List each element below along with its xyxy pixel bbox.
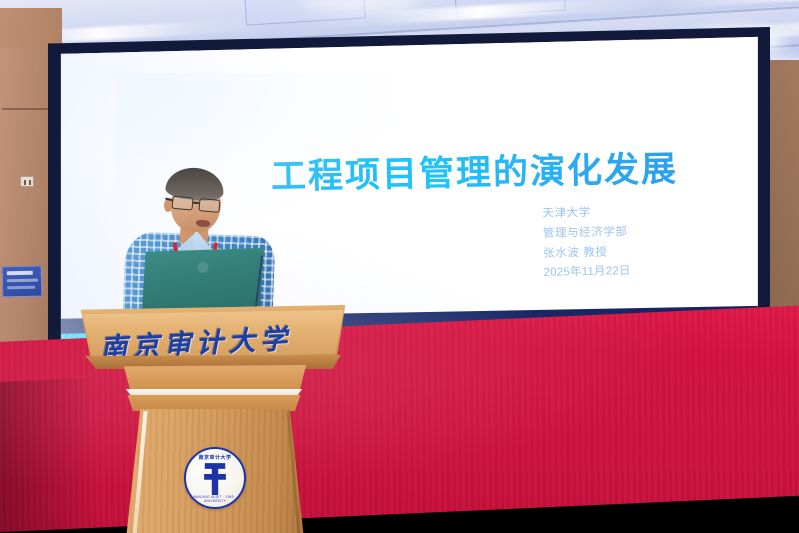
slide-title: 工程项目管理的演化发展 — [271, 150, 732, 197]
podium: 南京审计大学 南京审计大学 NANJING AUDIT · 1983 · UNI… — [78, 305, 348, 533]
podium-neck-lower — [122, 395, 306, 411]
door-seam — [2, 108, 52, 110]
slide-subtitle-block: 天津大学 管理与经济学部 张水波 教授 2025年11月22日 — [542, 201, 733, 284]
emblem-chinese-name: 南京审计大学 — [186, 454, 244, 461]
slide-date: 2025年11月22日 — [543, 260, 733, 283]
emblem-glyph-icon — [199, 463, 231, 495]
emblem-english-name: NANJING AUDIT · 1983 · UNIVERSITY — [186, 495, 244, 503]
wall-sign — [2, 266, 43, 298]
wall-outlet-icon — [20, 176, 34, 187]
laptop[interactable] — [142, 248, 264, 310]
podium-trim-stripe — [120, 389, 308, 396]
podium-front-face: 南京审计大学 — [80, 309, 346, 361]
conference-hall-scene: 工程项目管理的演化发展 天津大学 管理与经济学部 张水波 教授 2025年11月… — [0, 0, 799, 533]
university-emblem: 南京审计大学 NANJING AUDIT · 1983 · UNIVERSITY — [184, 447, 246, 509]
